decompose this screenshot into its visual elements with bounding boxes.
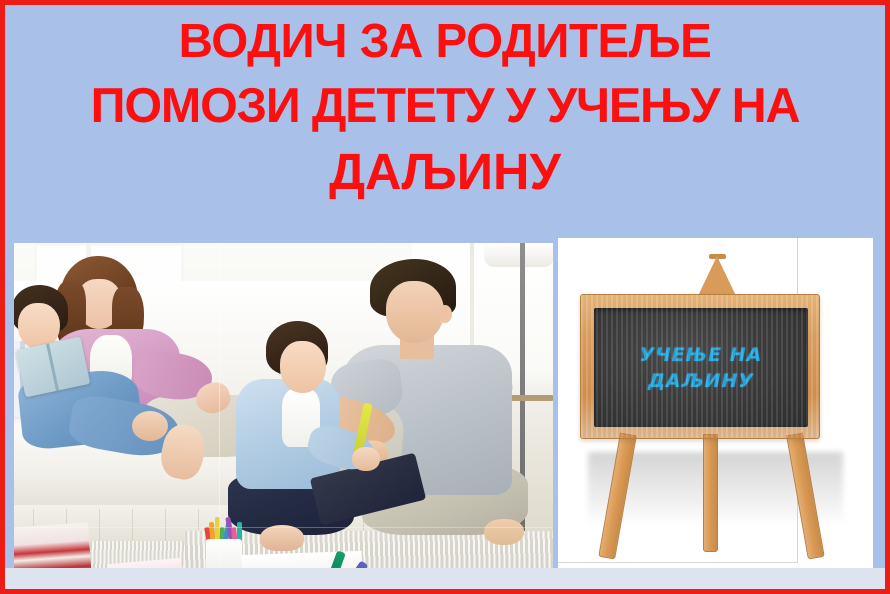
blackboard-surface: УЧЕЊЕ НА ДАЉИНУ [594,308,808,427]
family-learning-photo [14,243,553,573]
poster-title-block: ВОДИЧ ЗА РОДИТЕЉЕ ПОМОЗИ ДЕТЕТУ У УЧЕЊУ … [5,5,885,238]
book-stack [14,522,92,573]
father-face [386,281,444,343]
easel-illustration-panel: УЧЕЊЕ НА ДАЉИНУ [558,238,873,573]
title-line-3: ДАЉИНУ [9,139,880,204]
father-supporting-hand [484,519,524,545]
blackboard-frame: УЧЕЊЕ НА ДАЉИНУ [580,294,820,439]
chalk-text-line-2: ДАЉИНУ [648,368,754,394]
boy-floor-hand [352,447,380,471]
lamp-shade [484,243,553,267]
media-row: УЧЕЊЕ НА ДАЉИНУ [14,238,877,568]
boy-floor-foot [260,525,304,551]
boy-floor-face [280,341,326,393]
easel-finial [697,256,737,298]
boy-sofa-foot-back [132,411,168,441]
bottom-strip [5,568,885,589]
easel-leg-center [703,434,718,552]
father-ear [438,305,452,323]
panel-guide-line-horizontal [558,562,798,563]
photo-seam-horizontal [14,527,553,528]
chalk-text-line-1: УЧЕЊЕ НА [640,342,763,368]
title-line-2: ПОМОЗИ ДЕТЕТУ У УЧЕЊУ НА [9,74,880,139]
title-line-1: ВОДИЧ ЗА РОДИТЕЉЕ [9,9,880,74]
poster-canvas: ВОДИЧ ЗА РОДИТЕЉЕ ПОМОЗИ ДЕТЕТУ У УЧЕЊУ … [0,0,890,594]
photo-seam-vertical [219,243,220,573]
